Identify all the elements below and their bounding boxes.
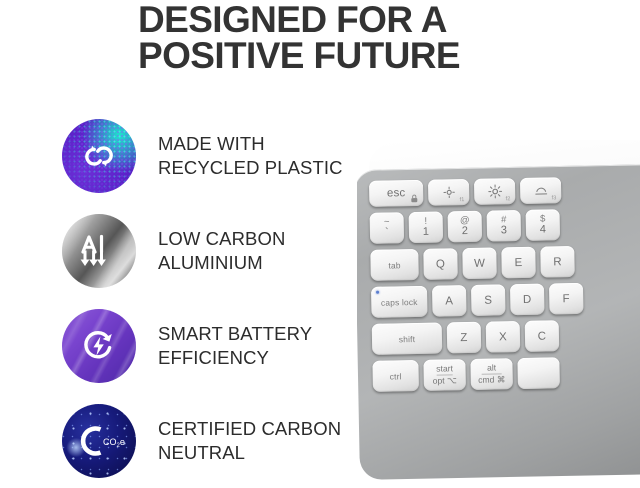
feature-label: SMART BATTERY EFFICIENCY <box>158 322 312 369</box>
feature-item-certified-carbon-neutral: CO2e CERTIFIED CARBON NEUTRAL <box>62 393 362 488</box>
mission-control-icon <box>534 185 548 196</box>
key-label: shift <box>399 334 416 344</box>
key-label: start opt ⌥ <box>432 364 457 386</box>
recycle-icon <box>62 119 136 193</box>
key-label: ~ ` <box>384 218 390 239</box>
key-start-opt[interactable]: start opt ⌥ <box>423 359 466 391</box>
key-label: ! 1 <box>423 217 430 238</box>
feature-item-recycled-plastic: MADE WITH RECYCLED PLASTIC <box>62 108 362 203</box>
key-f1[interactable]: f1 <box>428 179 469 206</box>
keyboard-product-image: esc f1 <box>357 140 640 485</box>
key-2[interactable]: @ 2 <box>448 211 483 243</box>
key-label: Z <box>460 332 467 344</box>
aluminium-icon <box>62 214 136 288</box>
key-tilde[interactable]: ~ ` <box>370 212 405 244</box>
caps-lock-led-icon <box>376 291 379 294</box>
brightness-down-icon <box>443 186 455 198</box>
key-label: E <box>514 256 522 268</box>
recycle-glyph <box>79 136 119 176</box>
battery-efficiency-glyph <box>78 325 120 367</box>
key-label: D <box>523 293 532 305</box>
key-fnum-label: f1 <box>460 197 465 203</box>
feature-label: LOW CARBON ALUMINIUM <box>158 227 285 274</box>
key-shift[interactable]: shift <box>372 323 443 355</box>
key-label: F <box>563 293 570 305</box>
headline-line-1: DESIGNED FOR A <box>138 2 558 38</box>
key-label: R <box>553 256 562 268</box>
key-label: tab <box>388 260 400 270</box>
key-w[interactable]: W <box>462 247 497 279</box>
key-label: ctrl <box>390 371 402 381</box>
key-tab[interactable]: tab <box>370 249 419 281</box>
key-x[interactable]: X <box>486 321 521 353</box>
key-4[interactable]: $ 4 <box>526 209 561 241</box>
key-spacebar[interactable] <box>517 357 560 389</box>
key-alt-cmd[interactable]: alt cmd ⌘ <box>470 358 513 390</box>
key-e[interactable]: E <box>501 247 536 279</box>
key-fnum-label: f2 <box>506 196 511 202</box>
key-q[interactable]: Q <box>423 248 458 280</box>
keyboard-keys: esc f1 <box>369 175 640 398</box>
keyboard-row-shift: shift Z X C <box>372 318 640 355</box>
keyboard-row-home: caps lock A S D F <box>371 281 640 318</box>
battery-efficiency-icon <box>62 309 136 383</box>
lock-icon <box>410 194 418 203</box>
key-c[interactable]: C <box>525 320 560 352</box>
key-z[interactable]: Z <box>447 322 482 354</box>
keyboard-row-numbers: ~ ` ! 1 @ 2 # 3 <box>370 207 640 244</box>
keyboard-row-qwerty: tab Q W E R <box>370 244 640 281</box>
key-ctrl[interactable]: ctrl <box>372 360 419 392</box>
key-f2[interactable]: f2 <box>474 178 515 205</box>
key-f3[interactable]: f3 <box>520 177 561 204</box>
key-label: X <box>499 331 507 343</box>
page-title: DESIGNED FOR A POSITIVE FUTURE <box>138 2 558 75</box>
key-label: alt cmd ⌘ <box>478 363 506 385</box>
carbon-neutral-icon: CO2e <box>62 404 136 478</box>
headline-line-2: POSITIVE FUTURE <box>138 38 558 74</box>
key-3[interactable]: # 3 <box>487 210 522 242</box>
key-fnum-label: f3 <box>552 195 557 201</box>
keyboard-row-function: esc f1 <box>369 175 640 207</box>
feature-item-low-carbon-aluminium: LOW CARBON ALUMINIUM <box>62 203 362 298</box>
brightness-up-icon <box>488 184 502 198</box>
key-esc[interactable]: esc <box>369 180 423 207</box>
key-label: $ 4 <box>540 215 547 236</box>
feature-item-smart-battery-efficiency: SMART BATTERY EFFICIENCY <box>62 298 362 393</box>
key-f[interactable]: F <box>549 283 584 315</box>
key-d[interactable]: D <box>510 284 545 316</box>
key-caps-lock[interactable]: caps lock <box>371 286 428 318</box>
key-label: A <box>445 295 453 307</box>
key-label: @ 2 <box>460 216 470 237</box>
key-s[interactable]: S <box>471 284 506 316</box>
key-1[interactable]: ! 1 <box>409 211 444 243</box>
key-label: # 3 <box>501 215 508 236</box>
key-a[interactable]: A <box>432 285 467 317</box>
feature-list: MADE WITH RECYCLED PLASTIC LOW CARBON AL… <box>62 108 362 488</box>
feature-label: CERTIFIED CARBON NEUTRAL <box>158 417 341 464</box>
key-label: W <box>474 257 485 269</box>
feature-label: MADE WITH RECYCLED PLASTIC <box>158 132 343 179</box>
key-label: Q <box>436 258 445 270</box>
key-label: S <box>484 294 492 306</box>
aluminium-glyph <box>76 230 122 272</box>
key-label: C <box>538 330 547 342</box>
key-label: caps lock <box>381 296 418 307</box>
keyboard-row-modifiers: ctrl start opt ⌥ alt cmd ⌘ <box>372 355 640 392</box>
carbon-neutral-glyph: CO2e <box>73 419 125 463</box>
carbon-glyph-subscript: CO2e <box>103 437 125 449</box>
key-label: esc <box>387 187 406 199</box>
key-r[interactable]: R <box>540 246 575 278</box>
